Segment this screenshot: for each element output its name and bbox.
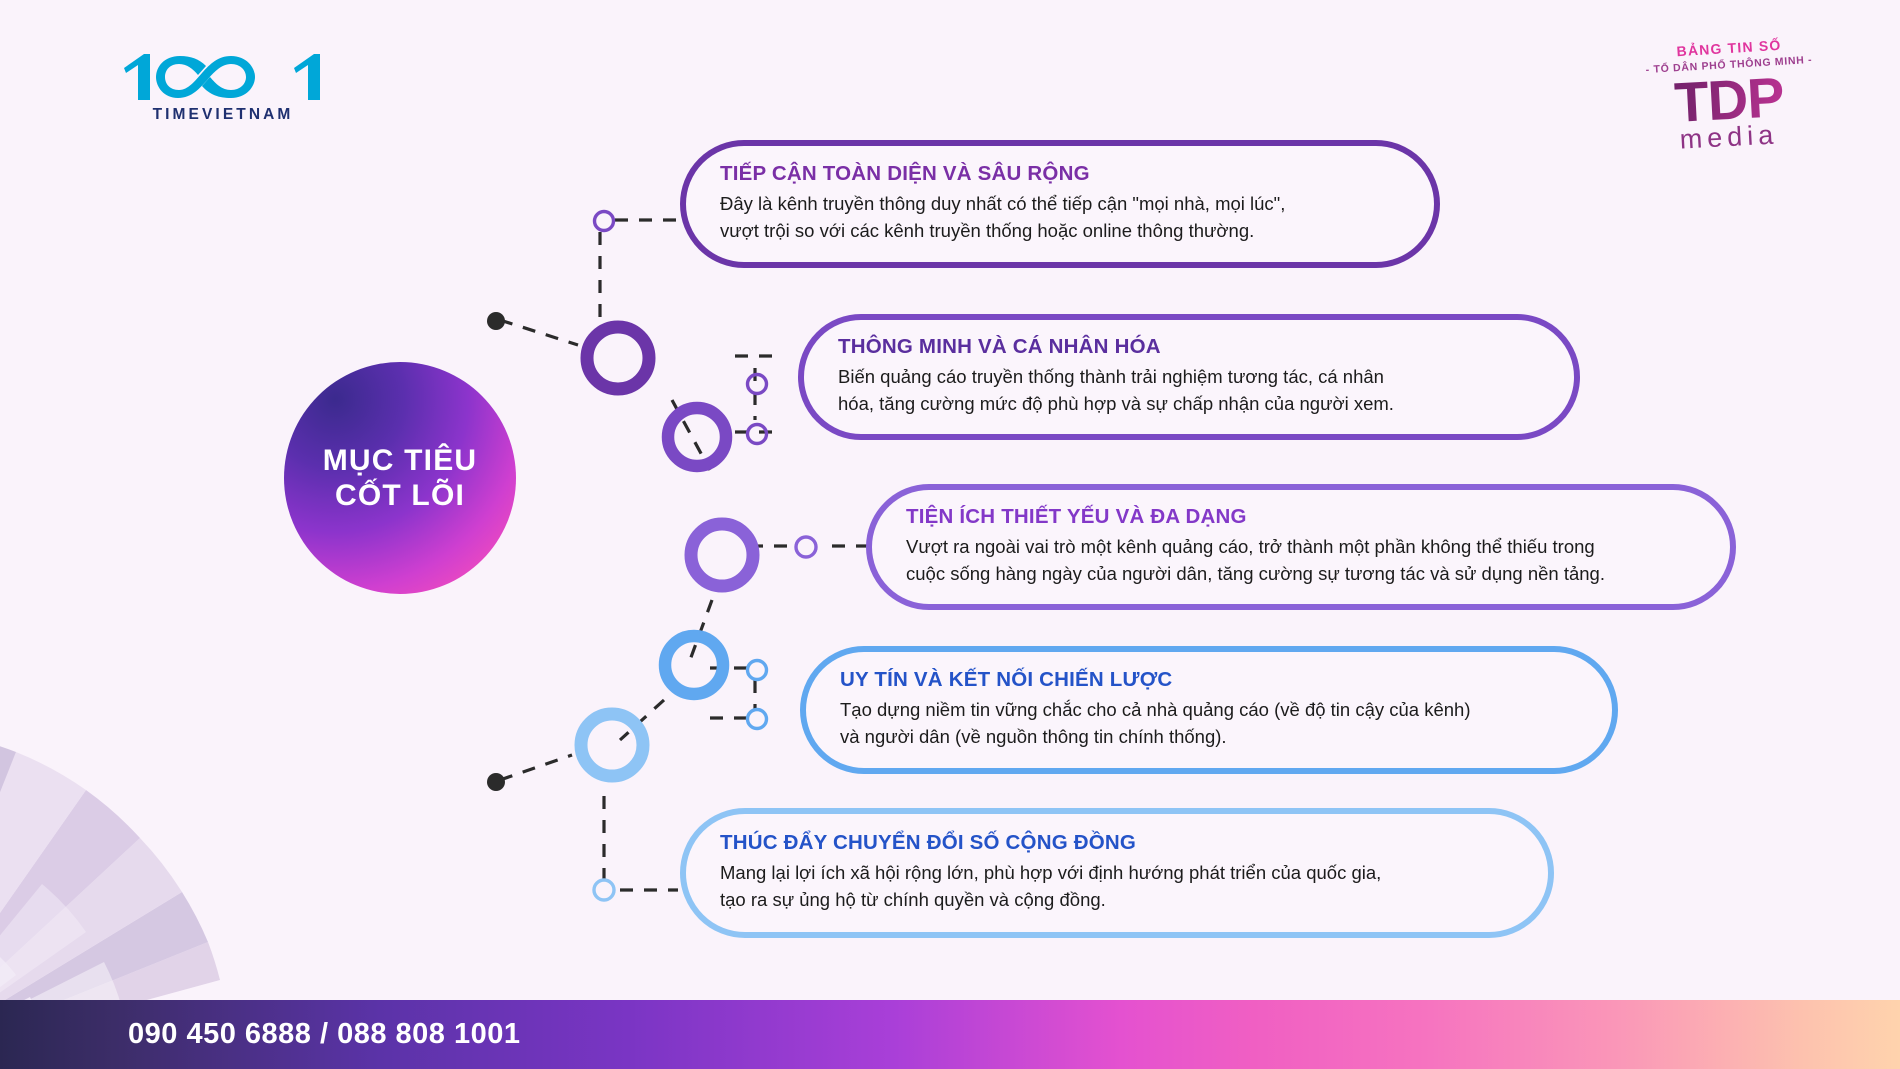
connector-node-card1 — [595, 212, 614, 231]
objective-card-1-body: Đây là kênh truyền thông duy nhất có thể… — [720, 191, 1400, 244]
decorative-burst-graphic — [0, 600, 500, 1069]
core-objective-circle: MỤC TIÊU CỐT LÕI — [284, 362, 516, 594]
objective-card-2[interactable]: THÔNG MINH VÀ CÁ NHÂN HÓA Biến quảng cáo… — [798, 314, 1580, 440]
connector-ring-3 — [691, 524, 753, 586]
objective-card-2-title: THÔNG MINH VÀ CÁ NHÂN HÓA — [838, 335, 1540, 359]
objective-card-5-body: Mang lại lợi ích xã hội rộng lớn, phù hợ… — [720, 860, 1514, 913]
objective-card-3-title: TIỆN ÍCH THIẾT YẾU VÀ ĐA DẠNG — [906, 505, 1696, 529]
connector-dot — [487, 773, 505, 791]
connector-node-card4b — [748, 710, 767, 729]
objective-card-5[interactable]: THÚC ĐẨY CHUYỂN ĐỔI SỐ CỘNG ĐỒNG Mang lạ… — [680, 808, 1554, 938]
logo-1001-mark — [118, 52, 328, 102]
connector-node-card4a — [748, 661, 767, 680]
objective-card-2-body: Biến quảng cáo truyền thống thành trải n… — [838, 364, 1540, 417]
objective-card-1-title: TIẾP CẬN TOÀN DIỆN VÀ SÂU RỘNG — [720, 162, 1400, 186]
connector-ring-5 — [581, 714, 643, 776]
logo-tdp-media: BẢNG TIN SỐ - TỔ DÂN PHỐ THÔNG MINH - TD… — [1614, 40, 1844, 153]
logo-wordmark: TIMEVIETNAM — [118, 106, 328, 124]
connector-dot — [487, 312, 505, 330]
objective-card-3-body: Vượt ra ngoài vai trò một kênh quảng cáo… — [906, 534, 1696, 587]
logo-1001-timevietnam: TIMEVIETNAM — [118, 52, 328, 124]
objective-card-5-title: THÚC ĐẨY CHUYỂN ĐỔI SỐ CỘNG ĐỒNG — [720, 831, 1514, 855]
objective-card-3[interactable]: TIỆN ÍCH THIẾT YẾU VÀ ĐA DẠNG Vượt ra ng… — [866, 484, 1736, 610]
connector-ring-1 — [587, 327, 649, 389]
objective-card-4-title: UY TÍN VÀ KẾT NỐI CHIẾN LƯỢC — [840, 668, 1578, 692]
infographic-canvas: TIMEVIETNAM BẢNG TIN SỐ - TỔ DÂN PHỐ THÔ… — [0, 0, 1900, 1069]
objective-card-4[interactable]: UY TÍN VÀ KẾT NỐI CHIẾN LƯỢC Tạo dựng ni… — [800, 646, 1618, 774]
core-line-1: MỤC TIÊU — [323, 443, 478, 478]
connector-node-card3 — [796, 537, 816, 557]
core-line-2: CỐT LÕI — [335, 478, 465, 513]
footer-bar: 090 450 6888 / 088 808 1001 — [0, 1000, 1900, 1069]
connector-node-card5 — [594, 880, 614, 900]
connector-ring-4 — [665, 636, 723, 694]
footer-phone-numbers: 090 450 6888 / 088 808 1001 — [128, 1000, 520, 1069]
objective-card-1[interactable]: TIẾP CẬN TOÀN DIỆN VÀ SÂU RỘNG Đây là kê… — [680, 140, 1440, 268]
connector-ring-2 — [668, 408, 726, 466]
objective-card-4-body: Tạo dựng niềm tin vững chắc cho cả nhà q… — [840, 697, 1578, 750]
connector-node-card2b — [748, 425, 767, 444]
connector-node-card2a — [748, 375, 767, 394]
